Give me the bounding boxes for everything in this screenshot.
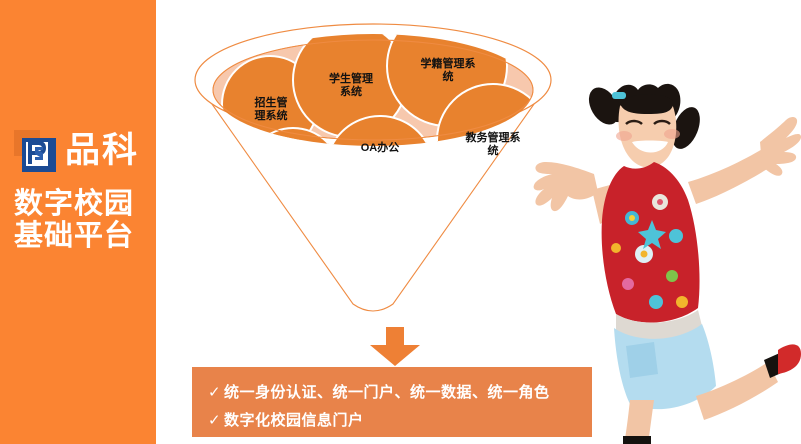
girl-skirt-pocket	[626, 342, 658, 378]
slide-root: 品科 数字校园 基础平台	[0, 0, 801, 444]
girl-left-hand	[534, 162, 598, 211]
check-icon-2: ✓	[208, 411, 224, 429]
girl-right-hand	[760, 117, 801, 176]
arrow-down-icon	[365, 327, 425, 367]
girl-sock-left	[623, 436, 651, 444]
girl-hair-tie-left	[612, 92, 626, 99]
result-line-1: ✓统一身份认证、统一门户、统一数据、统一角色	[208, 381, 550, 402]
result-line-2: ✓数字化校园信息门户	[208, 409, 364, 430]
pinke-logo-icon	[14, 130, 56, 172]
girl-shoe-right	[778, 344, 801, 374]
girl-photo	[520, 70, 801, 444]
sidebar-subtitle: 数字校园 基础平台	[14, 188, 134, 252]
check-icon-1: ✓	[208, 383, 224, 401]
result-line-2-text: 数字化校园信息门户	[224, 412, 364, 429]
brand-name: 品科	[65, 132, 139, 170]
result-line-1-text: 统一身份认证、统一门户、统一数据、统一角色	[224, 384, 550, 401]
sidebar-subtitle-line-1: 数字校园	[14, 188, 134, 220]
sidebar-subtitle-line-2: 基础平台	[14, 220, 134, 252]
girl-right-arm	[688, 148, 772, 204]
girl-cheek-left	[616, 131, 632, 141]
left-sidebar: 品科 数字校园 基础平台	[0, 0, 156, 444]
girl-cheek-right	[664, 129, 680, 139]
brand-block: 品科	[14, 130, 139, 172]
logo-letterform-icon	[26, 140, 48, 166]
